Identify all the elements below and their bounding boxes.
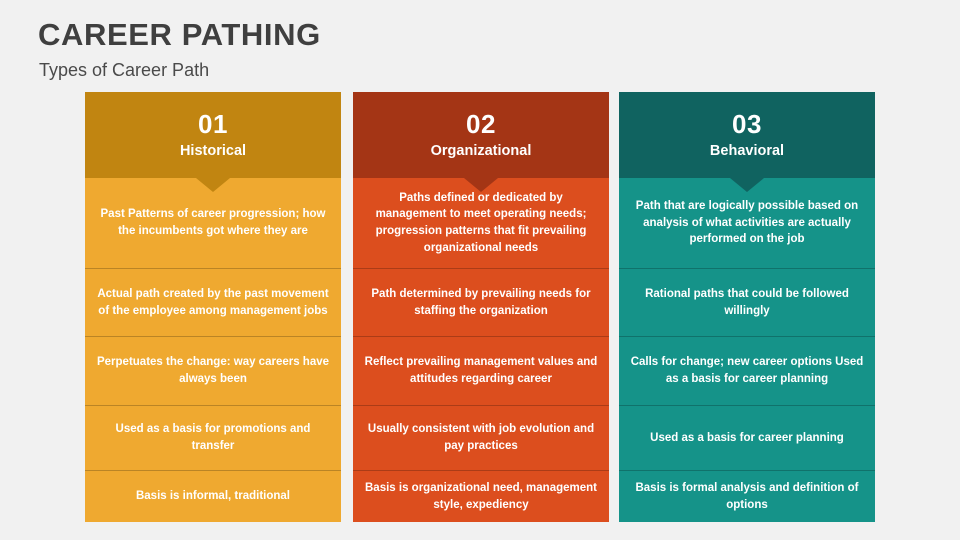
cell-text: Path determined by prevailing needs for …	[363, 286, 599, 319]
cell-text: Actual path created by the past movement…	[95, 286, 331, 319]
column-body-historical: Past Patterns of career progression; how…	[85, 178, 341, 522]
arrow-down-icon	[730, 178, 764, 192]
list-item[interactable]: Actual path created by the past movement…	[85, 268, 341, 336]
column-number: 03	[732, 110, 762, 139]
list-item[interactable]: Usually consistent with job evolution an…	[353, 405, 609, 470]
column-name: Historical	[180, 143, 246, 160]
column-body-organizational: Paths defined or dedicated by management…	[353, 178, 609, 522]
slide-canvas: CAREER PATHING Types of Career Path 01 H…	[0, 0, 960, 540]
cell-text: Basis is informal, traditional	[136, 488, 290, 505]
list-item[interactable]: Path determined by prevailing needs for …	[353, 268, 609, 336]
cell-text: Used as a basis for career planning	[650, 430, 844, 447]
cell-text: Paths defined or dedicated by management…	[363, 190, 599, 257]
cell-text: Reflect prevailing management values and…	[363, 354, 599, 387]
column-header-historical: 01 Historical	[85, 92, 341, 178]
list-item[interactable]: Used as a basis for promotions and trans…	[85, 405, 341, 470]
career-path-column-behavioral[interactable]: 03 Behavioral Path that are logically po…	[619, 92, 875, 522]
cell-text: Path that are logically possible based o…	[629, 198, 865, 248]
cell-text: Calls for change; new career options Use…	[629, 354, 865, 387]
list-item[interactable]: Basis is organizational need, management…	[353, 470, 609, 522]
career-path-columns: 01 Historical Past Patterns of career pr…	[85, 92, 877, 522]
list-item[interactable]: Perpetuates the change: way careers have…	[85, 336, 341, 405]
cell-text: Rational paths that could be followed wi…	[629, 286, 865, 319]
cell-text: Perpetuates the change: way careers have…	[95, 354, 331, 387]
column-number: 01	[198, 110, 228, 139]
list-item[interactable]: Basis is formal analysis and definition …	[619, 470, 875, 522]
page-subtitle: Types of Career Path	[39, 60, 209, 82]
page-title: CAREER PATHING	[38, 18, 321, 52]
cell-text: Past Patterns of career progression; how…	[95, 206, 331, 239]
column-header-behavioral: 03 Behavioral	[619, 92, 875, 178]
column-name: Organizational	[431, 143, 532, 160]
column-number: 02	[466, 110, 496, 139]
list-item[interactable]: Calls for change; new career options Use…	[619, 336, 875, 405]
career-path-column-organizational[interactable]: 02 Organizational Paths defined or dedic…	[353, 92, 609, 522]
list-item[interactable]: Rational paths that could be followed wi…	[619, 268, 875, 336]
list-item[interactable]: Reflect prevailing management values and…	[353, 336, 609, 405]
column-header-organizational: 02 Organizational	[353, 92, 609, 178]
cell-text: Basis is organizational need, management…	[363, 480, 599, 513]
column-body-behavioral: Path that are logically possible based o…	[619, 178, 875, 522]
arrow-down-icon	[464, 178, 498, 192]
career-path-column-historical[interactable]: 01 Historical Past Patterns of career pr…	[85, 92, 341, 522]
cell-text: Used as a basis for promotions and trans…	[95, 421, 331, 454]
column-name: Behavioral	[710, 143, 784, 160]
arrow-down-icon	[196, 178, 230, 192]
cell-text: Basis is formal analysis and definition …	[629, 480, 865, 513]
cell-text: Usually consistent with job evolution an…	[363, 421, 599, 454]
list-item[interactable]: Used as a basis for career planning	[619, 405, 875, 470]
list-item[interactable]: Basis is informal, traditional	[85, 470, 341, 522]
